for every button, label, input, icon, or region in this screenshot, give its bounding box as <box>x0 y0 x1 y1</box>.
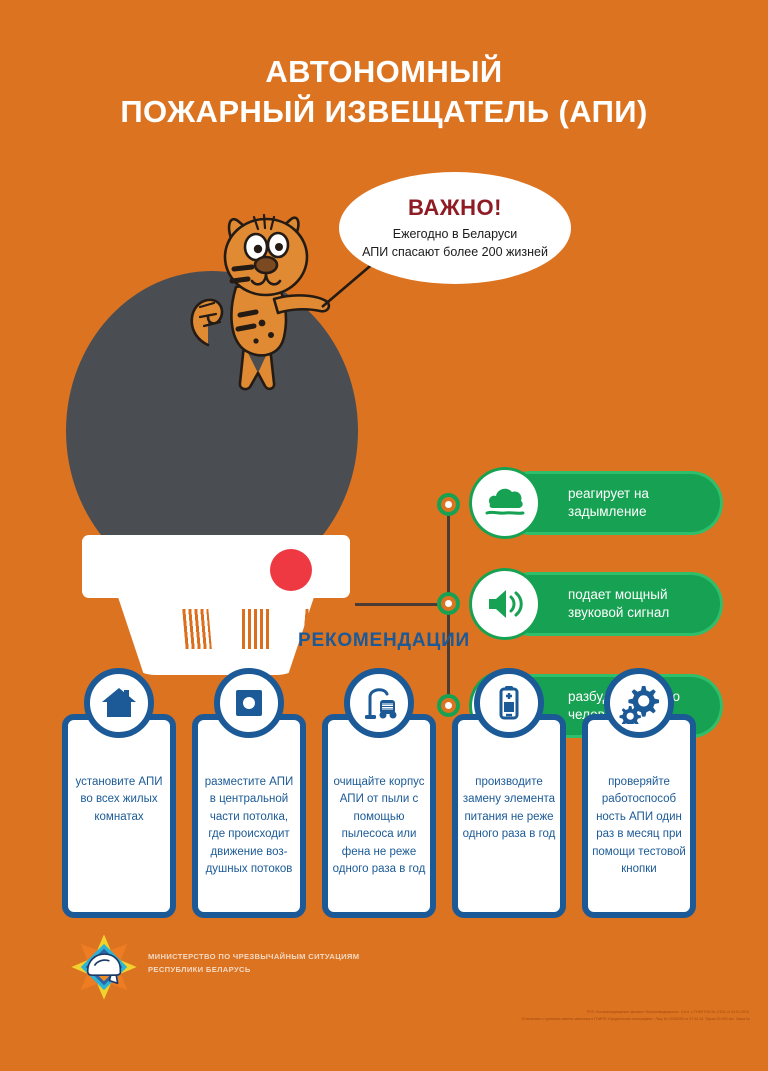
recommendation-card[interactable]: проверяйте работоспособ ность АПИ один р… <box>582 696 696 918</box>
card-text: проверяйте работоспособ ность АПИ один р… <box>592 774 686 879</box>
print-imprint: РУП «Белсанмедиарека» филиал «Белсанмеди… <box>521 1009 750 1023</box>
callout-heading: ВАЖНО! <box>408 195 502 221</box>
smoke-cloud-icon <box>483 481 527 525</box>
page-title: АВТОНОМНЫЙ ПОЖАРНЫЙ ИЗВЕЩАТЕЛЬ (АПИ) <box>0 52 768 131</box>
card-body: проверяйте работоспособ ность АПИ один р… <box>582 714 696 918</box>
card-icon-wrap <box>474 668 544 738</box>
title-line-2: ПОЖАРНЫЙ ИЗВЕЩАТЕЛЬ (АПИ) <box>0 92 768 132</box>
detector-led-indicator <box>270 549 312 591</box>
connector-horizontal <box>355 603 449 606</box>
card-text: очищайте корпус АПИ от пыли с помощью пы… <box>332 774 426 879</box>
mchs-belarus-emblem-icon <box>70 933 138 1001</box>
connector-node-2 <box>437 592 460 615</box>
detector-top-plate <box>82 535 350 598</box>
connector-node-1 <box>437 493 460 516</box>
feature-icon-wrap <box>472 470 538 536</box>
gears-icon <box>618 682 660 724</box>
card-icon-wrap <box>344 668 414 738</box>
recommendation-card[interactable]: разместите АПИ в центральной части потол… <box>192 696 306 918</box>
ministry-line-2: РЕСПУБЛИКИ БЕЛАРУСЬ <box>148 964 359 977</box>
callout-line-1: Ежегодно в Беларуси <box>393 226 518 243</box>
hero-illustration: ВАЖНО! Ежегодно в Беларуси АПИ спасают б… <box>0 150 768 630</box>
recommendation-card[interactable]: производите замену элемента питания не р… <box>452 696 566 918</box>
card-body: установите АПИ во всех жилых комнатах <box>62 714 176 918</box>
vacuum-cleaner-icon <box>358 682 400 724</box>
card-icon-wrap <box>84 668 154 738</box>
card-icon-wrap <box>214 668 284 738</box>
recommendation-card[interactable]: установите АПИ во всех жилых комнатах <box>62 696 176 918</box>
card-body: разместите АПИ в центральной части потол… <box>192 714 306 918</box>
feature-item-sound[interactable]: подает мощный звуковой сигнал <box>472 571 720 637</box>
ministry-line-1: МИНИСТЕРСТВО ПО ЧРЕЗВЫЧАЙНЫМ СИТУАЦИЯМ <box>148 951 359 964</box>
card-body: очищайте корпус АПИ от пыли с помощью пы… <box>322 714 436 918</box>
battery-icon <box>489 683 529 723</box>
card-body: производите замену элемента питания не р… <box>452 714 566 918</box>
house-icon <box>99 683 139 723</box>
card-icon-wrap <box>604 668 674 738</box>
recommendation-cards: установите АПИ во всех жилых комнатах ра… <box>62 672 710 918</box>
card-text: производите замену элемента питания не р… <box>462 774 556 844</box>
important-callout-bubble: ВАЖНО! Ежегодно в Беларуси АПИ спасают б… <box>339 172 571 284</box>
smoke-detector-illustration <box>72 535 360 675</box>
feature-item-smoke[interactable]: реагирует на задымление <box>472 470 720 536</box>
page-footer: МИНИСТЕРСТВО ПО ЧРЕЗВЫЧАЙНЫМ СИТУАЦИЯМ Р… <box>0 925 768 1071</box>
ceiling-detector-icon <box>229 683 269 723</box>
recommendations-heading: РЕКОМЕНДАЦИИ <box>0 630 768 652</box>
feature-icon-wrap <box>472 571 538 637</box>
imprint-line-1: РУП «Белсанмедиарека» филиал «Белсанмеди… <box>521 1009 750 1016</box>
callout-line-2: АПИ спасают более 200 жизней <box>362 244 548 261</box>
ministry-name: МИНИСТЕРСТВО ПО ЧРЕЗВЫЧАЙНЫМ СИТУАЦИЯМ Р… <box>148 951 359 976</box>
card-text: установите АПИ во всех жилых комнатах <box>72 774 166 826</box>
title-line-1: АВТОНОМНЫЙ <box>265 54 502 89</box>
recommendation-card[interactable]: очищайте корпус АПИ от пыли с помощью пы… <box>322 696 436 918</box>
card-text: разместите АПИ в центральной части потол… <box>202 774 296 879</box>
speaker-sound-icon <box>483 582 527 626</box>
imprint-line-2: Отпечатано с оригинал-макета заказчика в… <box>521 1016 750 1023</box>
